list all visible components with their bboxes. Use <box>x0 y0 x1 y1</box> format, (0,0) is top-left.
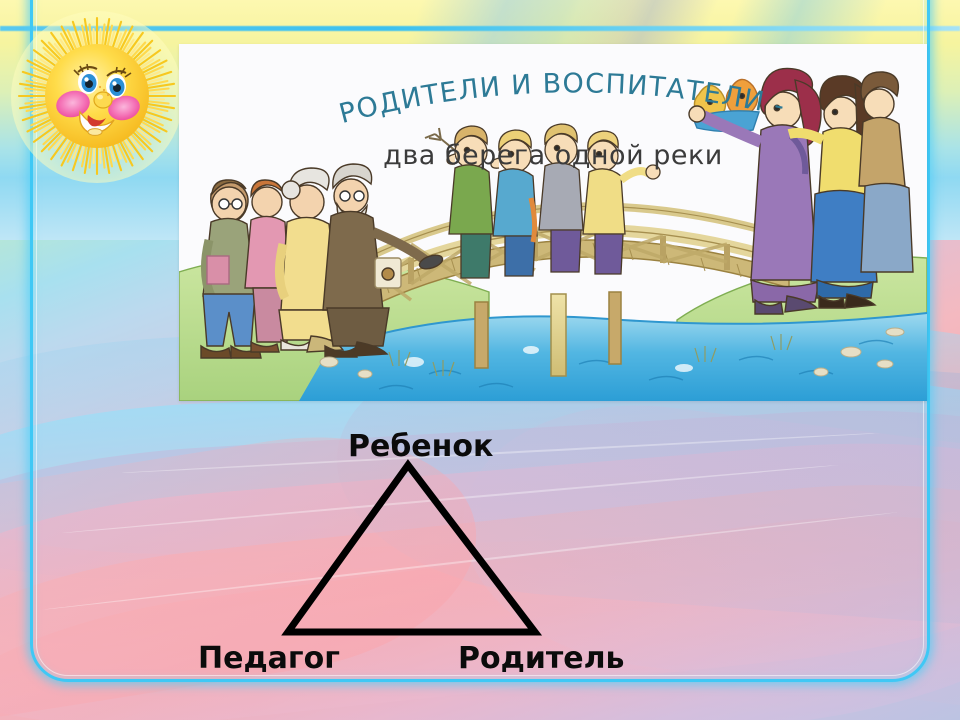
illustration-subtitle: два берега одной реки <box>179 140 927 171</box>
svg-text:РОДИТЕЛИ И ВОСПИТАТЕЛИ -: РОДИТЕЛИ И ВОСПИТАТЕЛИ - <box>336 68 788 130</box>
triangle-diagram: Ребенок Педагог Родитель <box>170 420 650 690</box>
triangle-label-top: Ребенок <box>348 429 493 464</box>
illustration-arc-title: РОДИТЕЛИ И ВОСПИТАТЕЛИ - <box>179 48 927 140</box>
slide-canvas: РОДИТЕЛИ И ВОСПИТАТЕЛИ - два берега одно… <box>0 0 960 720</box>
arc-title-text: РОДИТЕЛИ И ВОСПИТАТЕЛИ - <box>336 68 788 130</box>
triangle-label-bottom-right: Родитель <box>458 641 625 676</box>
illustration-panel: РОДИТЕЛИ И ВОСПИТАТЕЛИ - два берега одно… <box>179 44 927 401</box>
triangle-label-bottom-left: Педагог <box>198 641 340 676</box>
smiling-sun-icon <box>8 8 186 186</box>
triangle-outline <box>288 465 535 632</box>
